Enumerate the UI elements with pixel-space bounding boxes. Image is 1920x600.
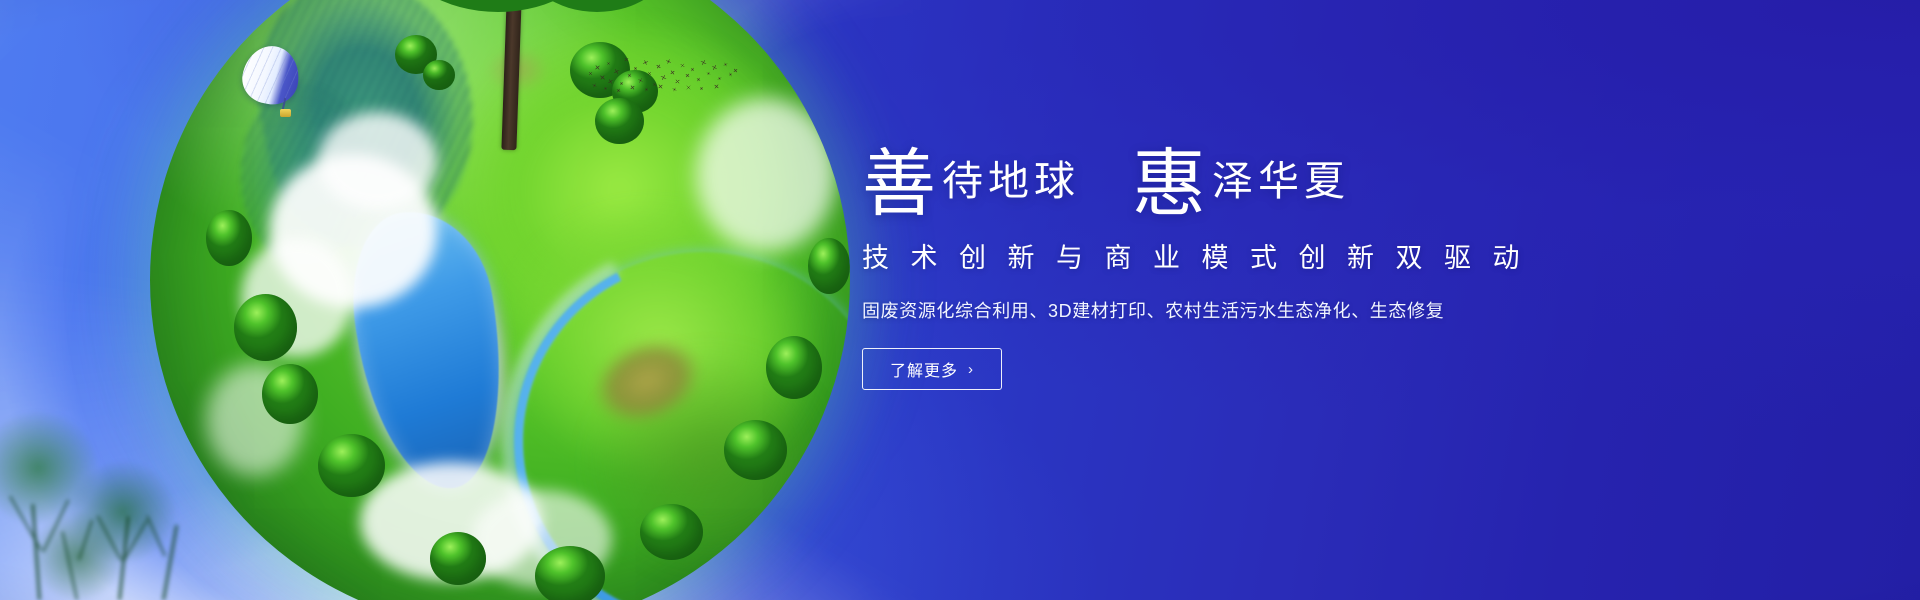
tree-branch (146, 515, 166, 556)
description-line: 固废资源化综合利用、3D建材打印、农村生活污水生态净化、生态修复 (862, 297, 1562, 323)
tree-branch (78, 520, 93, 561)
bird-icon (699, 87, 703, 90)
subtitle: 技 术 创 新 与 商 业 模 式 创 新 双 驱 动 (862, 236, 1562, 275)
tree-trunk (501, 0, 521, 150)
learn-more-button[interactable]: 了解更多 › (862, 348, 1002, 390)
bird-icon (619, 82, 623, 85)
tree-canopy (206, 210, 252, 266)
bird-icon (680, 64, 685, 67)
tree-canopy (766, 336, 822, 399)
bird-icon (613, 69, 619, 74)
bird-icon (607, 62, 611, 64)
bird-flock (586, 52, 736, 94)
tree-canopy (262, 364, 318, 424)
tree-branch (97, 515, 122, 560)
chevron-right-icon: › (968, 361, 974, 378)
tree-branch (61, 531, 78, 600)
bird-icon (644, 88, 649, 92)
headline-char-shan: 善 (862, 150, 936, 218)
tree-canopy (430, 532, 486, 585)
headline-text-zehuaxia: 泽华夏 (1212, 161, 1350, 202)
tree-canopy (724, 420, 787, 480)
headline: 善 待地球 惠 泽华夏 (862, 126, 1562, 212)
balloon-ribs (238, 42, 303, 109)
tree-canopy (640, 504, 703, 560)
bird-icon (706, 72, 711, 76)
bird-icon (647, 72, 651, 75)
bird-icon (658, 85, 664, 89)
bird-icon (685, 74, 690, 78)
bird-icon (624, 58, 629, 61)
bird-icon (629, 85, 635, 89)
balloon-basket (280, 109, 291, 117)
bird-icon (728, 73, 733, 77)
bird-icon (696, 78, 701, 81)
bird-icon (700, 60, 707, 65)
tree-canopy (808, 238, 850, 294)
bird-icon (642, 60, 649, 65)
bird-icon (599, 76, 605, 80)
bird-icon (588, 72, 592, 75)
banner-copy: 善 待地球 惠 泽华夏 技 术 创 新 与 商 业 模 式 创 新 双 驱 动 … (862, 126, 1562, 390)
tree-canopy (535, 546, 605, 600)
bird-icon (686, 86, 692, 90)
bird-icon (633, 67, 637, 70)
bird-icon (616, 89, 621, 93)
headline-char-hui: 惠 (1132, 150, 1206, 218)
bird-icon (638, 78, 644, 82)
bird-icon (656, 64, 662, 68)
bird-icon (672, 88, 677, 92)
hero-banner: 善 待地球 惠 泽华夏 技 术 创 新 与 商 业 模 式 创 新 双 驱 动 … (0, 0, 1920, 600)
bird-icon (723, 62, 728, 66)
learn-more-label: 了解更多 (890, 357, 958, 381)
bird-icon (592, 83, 598, 87)
bird-icon (711, 65, 718, 70)
bird-icon (690, 68, 695, 72)
tree-branch (9, 496, 42, 551)
bird-icon (733, 69, 738, 73)
planet-cloud (696, 98, 836, 252)
headline-text-daidiqiu: 待地球 (942, 161, 1080, 202)
bird-icon (603, 87, 608, 91)
tree-canopy (318, 434, 385, 497)
dirt-patch-large (572, 316, 723, 448)
bird-icon (627, 73, 633, 77)
bird-icon (652, 83, 657, 86)
foreground-silhouette-trees (0, 400, 228, 600)
bird-icon (717, 77, 722, 80)
bird-icon (594, 66, 600, 70)
bird-icon (607, 79, 613, 84)
bird-icon (665, 59, 671, 64)
tree-branch (162, 525, 178, 600)
bird-icon (669, 70, 675, 74)
bird-icon (660, 75, 667, 80)
tree-canopy (234, 294, 297, 361)
tree-branch (31, 504, 41, 600)
bird-icon (675, 80, 681, 84)
hot-air-balloon (243, 46, 303, 124)
bird-icon (714, 85, 720, 89)
